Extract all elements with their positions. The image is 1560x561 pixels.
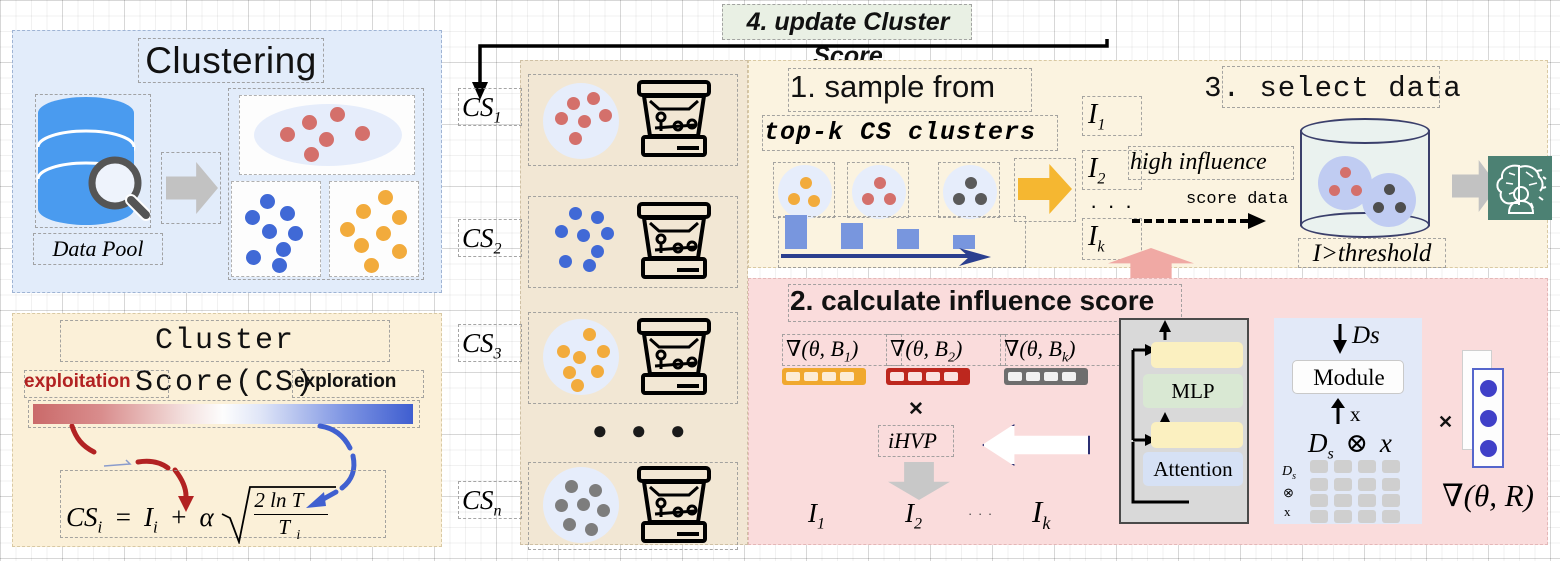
grad-r-strip xyxy=(1472,368,1504,468)
x-up-arrow xyxy=(1330,398,1346,426)
matrix-grid xyxy=(1310,460,1410,522)
norm-block-top xyxy=(1151,342,1243,368)
grad-bk-label: ∇(θ, Bk) xyxy=(1004,336,1075,366)
cs-formula-den-sub: i xyxy=(296,528,300,544)
brain-gear-person-icon xyxy=(1493,161,1547,215)
exploitation-label: exploitation xyxy=(24,371,131,393)
grad-r-times-symbol: ✕ xyxy=(1438,412,1453,433)
cluster-box-orange xyxy=(329,181,419,277)
cs1-label: CS1 xyxy=(462,92,502,127)
cs-formula-lhs-sub: i xyxy=(98,517,103,536)
sample-step-title: 1. sample from xyxy=(790,69,995,105)
ds-down-arrow xyxy=(1330,322,1350,354)
cs-row-2[interactable] xyxy=(528,196,738,288)
sample-bar-chart xyxy=(778,216,1026,268)
cs2-label: CS2 xyxy=(462,223,502,258)
mlp-block[interactable]: MLP xyxy=(1143,374,1243,408)
arcade-machine-icon xyxy=(633,465,715,547)
arcade-machine-icon xyxy=(633,79,715,161)
csn-label: CSn xyxy=(462,485,502,520)
cs-row-3[interactable] xyxy=(528,312,738,404)
grad-b2-label: ∇(θ, B2) xyxy=(890,336,962,366)
grad-bk-pill xyxy=(1004,368,1088,385)
threshold-label: I>threshold xyxy=(1300,240,1444,268)
sample-cluster-3[interactable] xyxy=(938,162,1000,218)
result-i2: I2 xyxy=(905,498,922,533)
cluster-score-title: Cluster Score(CS) xyxy=(60,320,390,362)
cs-formula-eq: = xyxy=(114,502,132,532)
grad-b2-pill xyxy=(886,368,970,385)
cs-formula-term1-sub: i xyxy=(153,517,158,536)
result-ellipsis: · · · xyxy=(968,506,993,521)
mlp-label: MLP xyxy=(1143,374,1243,408)
bar-3 xyxy=(897,229,919,249)
high-influence-label: high influence xyxy=(1130,149,1267,176)
module-inner-box[interactable]: Module xyxy=(1292,360,1404,394)
cs-formula: CSi = Ii + α 2 ln T T i xyxy=(66,484,338,544)
bar-1 xyxy=(785,215,807,249)
diagram-canvas: 4. update Cluster Score Clustering Data … xyxy=(0,0,1560,561)
clustering-title: Clustering xyxy=(140,40,322,82)
score-data-arrow xyxy=(1130,212,1270,230)
select-step-title: 3. select data xyxy=(1198,70,1468,108)
matrix-op-label: ⊗ xyxy=(1283,485,1294,501)
topk-subtitle: top-k CS clusters xyxy=(764,118,1036,147)
cluster-box-blue xyxy=(231,181,321,277)
module-product-label: Ds ⊗ x xyxy=(1308,428,1392,463)
arcade-machine-icon xyxy=(633,201,715,283)
sample-cluster-2[interactable] xyxy=(847,162,909,218)
influence-step-title: 2. calculate influence score xyxy=(790,285,1154,317)
influence-i1: I1 xyxy=(1088,99,1105,135)
module-x-label: x xyxy=(1350,402,1361,427)
grad-b1-label: ∇(θ, B1) xyxy=(786,336,858,366)
transformer-block: MLP Attention xyxy=(1119,318,1249,524)
module-block: Ds Module x Ds ⊗ x Ds ⊗ x xyxy=(1274,318,1422,524)
matrix-x-label: x xyxy=(1284,504,1291,520)
data-pool-label: Data Pool xyxy=(35,235,161,263)
ihvp-label: iHVP xyxy=(888,428,937,454)
exploration-label: exploration xyxy=(294,371,396,393)
influence-ellipsis: · · · xyxy=(1090,193,1134,219)
times-symbol: ✕ xyxy=(908,398,924,421)
arcade-machine-icon xyxy=(633,317,715,399)
attention-block[interactable]: Attention xyxy=(1143,452,1243,486)
exploitation-exploration-gradient xyxy=(33,404,413,424)
sample-cluster-1[interactable] xyxy=(773,162,835,218)
cs-row-1[interactable] xyxy=(528,74,738,166)
cs-row-n[interactable] xyxy=(528,462,738,550)
attention-label: Attention xyxy=(1143,452,1243,486)
sample-axis-arrow xyxy=(779,247,1027,267)
model-box xyxy=(1488,156,1552,220)
bar-2 xyxy=(841,223,863,249)
cs-formula-lhs: CS xyxy=(66,502,98,532)
cs3-label: CS3 xyxy=(462,328,502,363)
result-ik: Ik xyxy=(1032,494,1050,534)
cs-formula-plus: + xyxy=(169,502,187,532)
cs-rows-ellipsis: ● ● ● xyxy=(592,415,694,446)
result-i1: I1 xyxy=(808,498,825,533)
score-data-label: score data xyxy=(1186,190,1288,209)
influence-i2: I2 xyxy=(1088,153,1105,189)
cs-formula-alpha: α xyxy=(199,502,213,532)
module-label: Module xyxy=(1293,361,1405,395)
cluster-box-red xyxy=(239,95,415,175)
database-icon xyxy=(36,95,150,227)
ds-label: Ds xyxy=(1352,322,1380,350)
clusters-group xyxy=(228,88,424,280)
matrix-ds-label: Ds xyxy=(1282,464,1296,482)
gray-mini-cluster xyxy=(1362,173,1416,227)
selected-data-cylinder xyxy=(1300,118,1430,238)
norm-block-bottom xyxy=(1151,422,1243,448)
cs-formula-den: T xyxy=(278,515,290,540)
cs-formula-term1: I xyxy=(144,502,153,532)
influence-ik: Ik xyxy=(1088,221,1104,257)
grad-r-label: ∇(θ, R) xyxy=(1442,478,1534,514)
grad-b1-pill xyxy=(782,368,866,385)
cs-formula-num: 2 ln T xyxy=(254,488,303,513)
